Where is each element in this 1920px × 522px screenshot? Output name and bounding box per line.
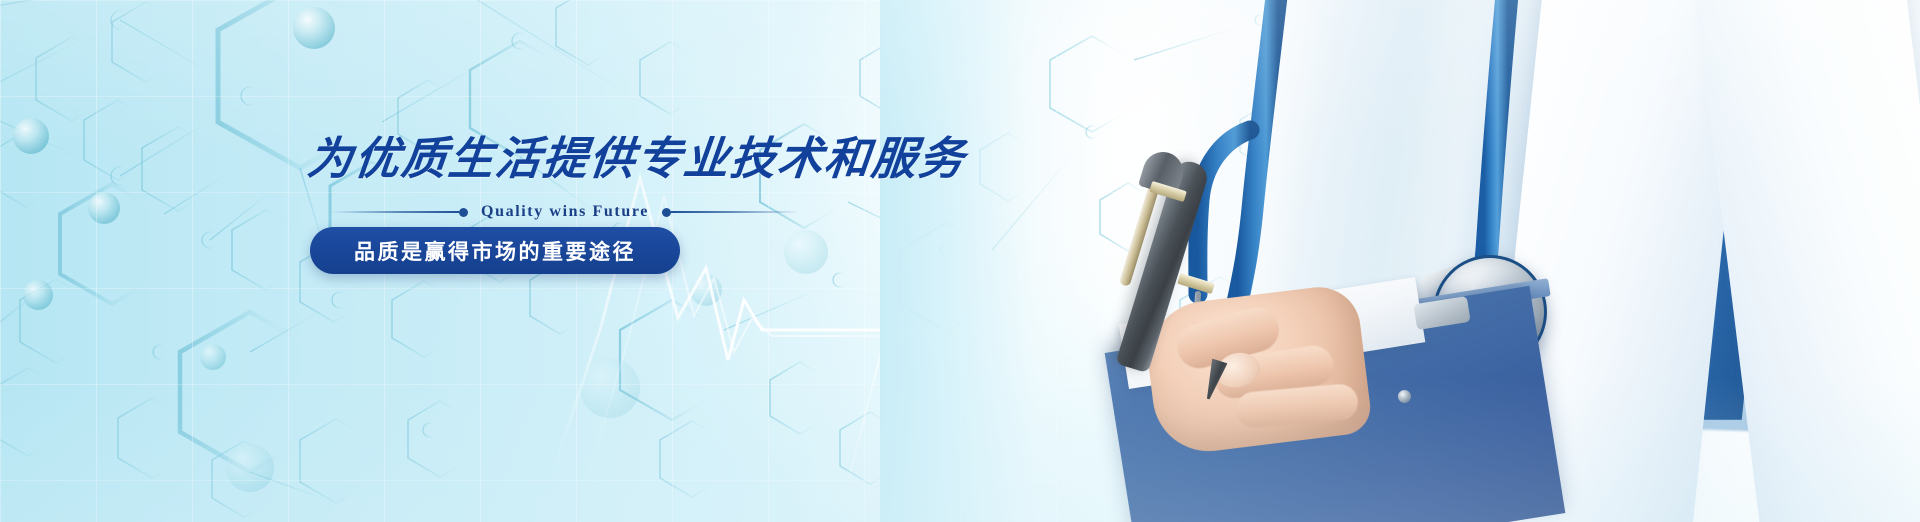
divider-rule-right: [671, 211, 800, 213]
slogan-pill-label: 品质是赢得市场的重要途径: [354, 236, 636, 266]
slogan-pill-button[interactable]: 品质是赢得市场的重要途径: [310, 227, 680, 274]
english-tagline: Quality wins Future: [468, 203, 662, 221]
divider-rule-left: [330, 211, 459, 213]
hero-banner: 为优质生活提供专业技术和服务 Quality wins Future 品质是赢得…: [0, 0, 1920, 522]
tagline-divider: Quality wins Future: [330, 200, 800, 224]
banner-headline: 为优质生活提供专业技术和服务: [305, 122, 970, 187]
bullet-dot-left-icon: [459, 208, 468, 217]
banner-content: 为优质生活提供专业技术和服务 Quality wins Future 品质是赢得…: [0, 0, 1000, 522]
bullet-dot-right-icon: [662, 208, 671, 217]
